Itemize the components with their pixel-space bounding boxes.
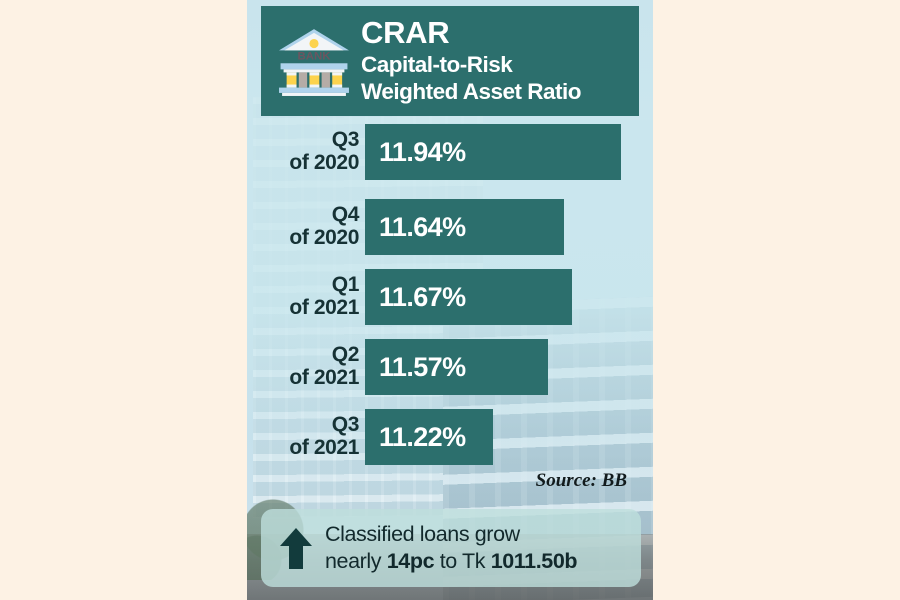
source-attribution: Source: BB (536, 470, 627, 492)
bar-period-line1: Q3 (332, 413, 359, 436)
header-text-group: CRAR Capital-to-Risk Weighted Asset Rati… (361, 17, 581, 105)
callout-box: Classified loans grow nearly 14pc to Tk … (261, 509, 641, 587)
bar-label: Q1 of 2021 (247, 274, 365, 319)
bar-row: Q4 of 2020 11.64% (247, 199, 653, 255)
bar-value: 11.22% (379, 422, 465, 453)
bar-q3-2021: 11.22% (365, 409, 493, 465)
bar-period-line2: of 2021 (247, 367, 359, 390)
callout-bold-percent: 14pc (387, 549, 434, 573)
callout-middle: to Tk (434, 549, 491, 573)
bar-value: 11.64% (379, 212, 465, 243)
bar-label: Q3 of 2020 (247, 129, 365, 174)
bar-row: Q3 of 2021 11.22% (247, 409, 653, 465)
bar-period-line2: of 2020 (247, 227, 359, 250)
callout-line-2: nearly 14pc to Tk 1011.50b (325, 548, 577, 575)
infographic-canvas: BANK CRAR (0, 0, 900, 600)
bar-q3-2020: 11.94% (365, 124, 621, 180)
bar-q4-2020: 11.64% (365, 199, 564, 255)
bank-building-icon: BANK (275, 23, 353, 99)
bar-label: Q2 of 2021 (247, 344, 365, 389)
callout-line-1: Classified loans grow (325, 521, 577, 548)
crar-bar-chart: Q3 of 2020 11.94% Q4 of 2020 11.64% Q1 (247, 124, 653, 469)
bar-value: 11.94% (379, 137, 465, 168)
bar-row: Q1 of 2021 11.67% (247, 269, 653, 325)
bar-period-line1: Q4 (332, 203, 359, 226)
bar-period-line1: Q3 (332, 128, 359, 151)
bar-period-line2: of 2020 (247, 152, 359, 175)
svg-text:BANK: BANK (298, 50, 332, 62)
bar-row: Q3 of 2020 11.94% (247, 124, 653, 180)
callout-prefix: nearly (325, 549, 387, 573)
callout-bold-amount: 1011.50b (491, 549, 577, 573)
bar-value: 11.57% (379, 352, 465, 383)
bar-period-line1: Q1 (332, 273, 359, 296)
header-subtitle-line2: Weighted Asset Ratio (361, 79, 581, 105)
page-title: CRAR (361, 17, 581, 48)
infographic-panel: BANK CRAR (247, 0, 653, 600)
bar-value: 11.67% (379, 282, 465, 313)
header-subtitle-line1: Capital-to-Risk (361, 52, 581, 78)
bar-period-line2: of 2021 (247, 437, 359, 460)
bar-period-line2: of 2021 (247, 297, 359, 320)
bar-q1-2021: 11.67% (365, 269, 572, 325)
bar-label: Q4 of 2020 (247, 204, 365, 249)
bar-q2-2021: 11.57% (365, 339, 548, 395)
header-banner: BANK CRAR (261, 6, 639, 116)
bar-period-line1: Q2 (332, 343, 359, 366)
bar-label: Q3 of 2021 (247, 414, 365, 459)
up-arrow-icon (279, 526, 313, 570)
bar-row: Q2 of 2021 11.57% (247, 339, 653, 395)
callout-text: Classified loans grow nearly 14pc to Tk … (325, 521, 577, 574)
